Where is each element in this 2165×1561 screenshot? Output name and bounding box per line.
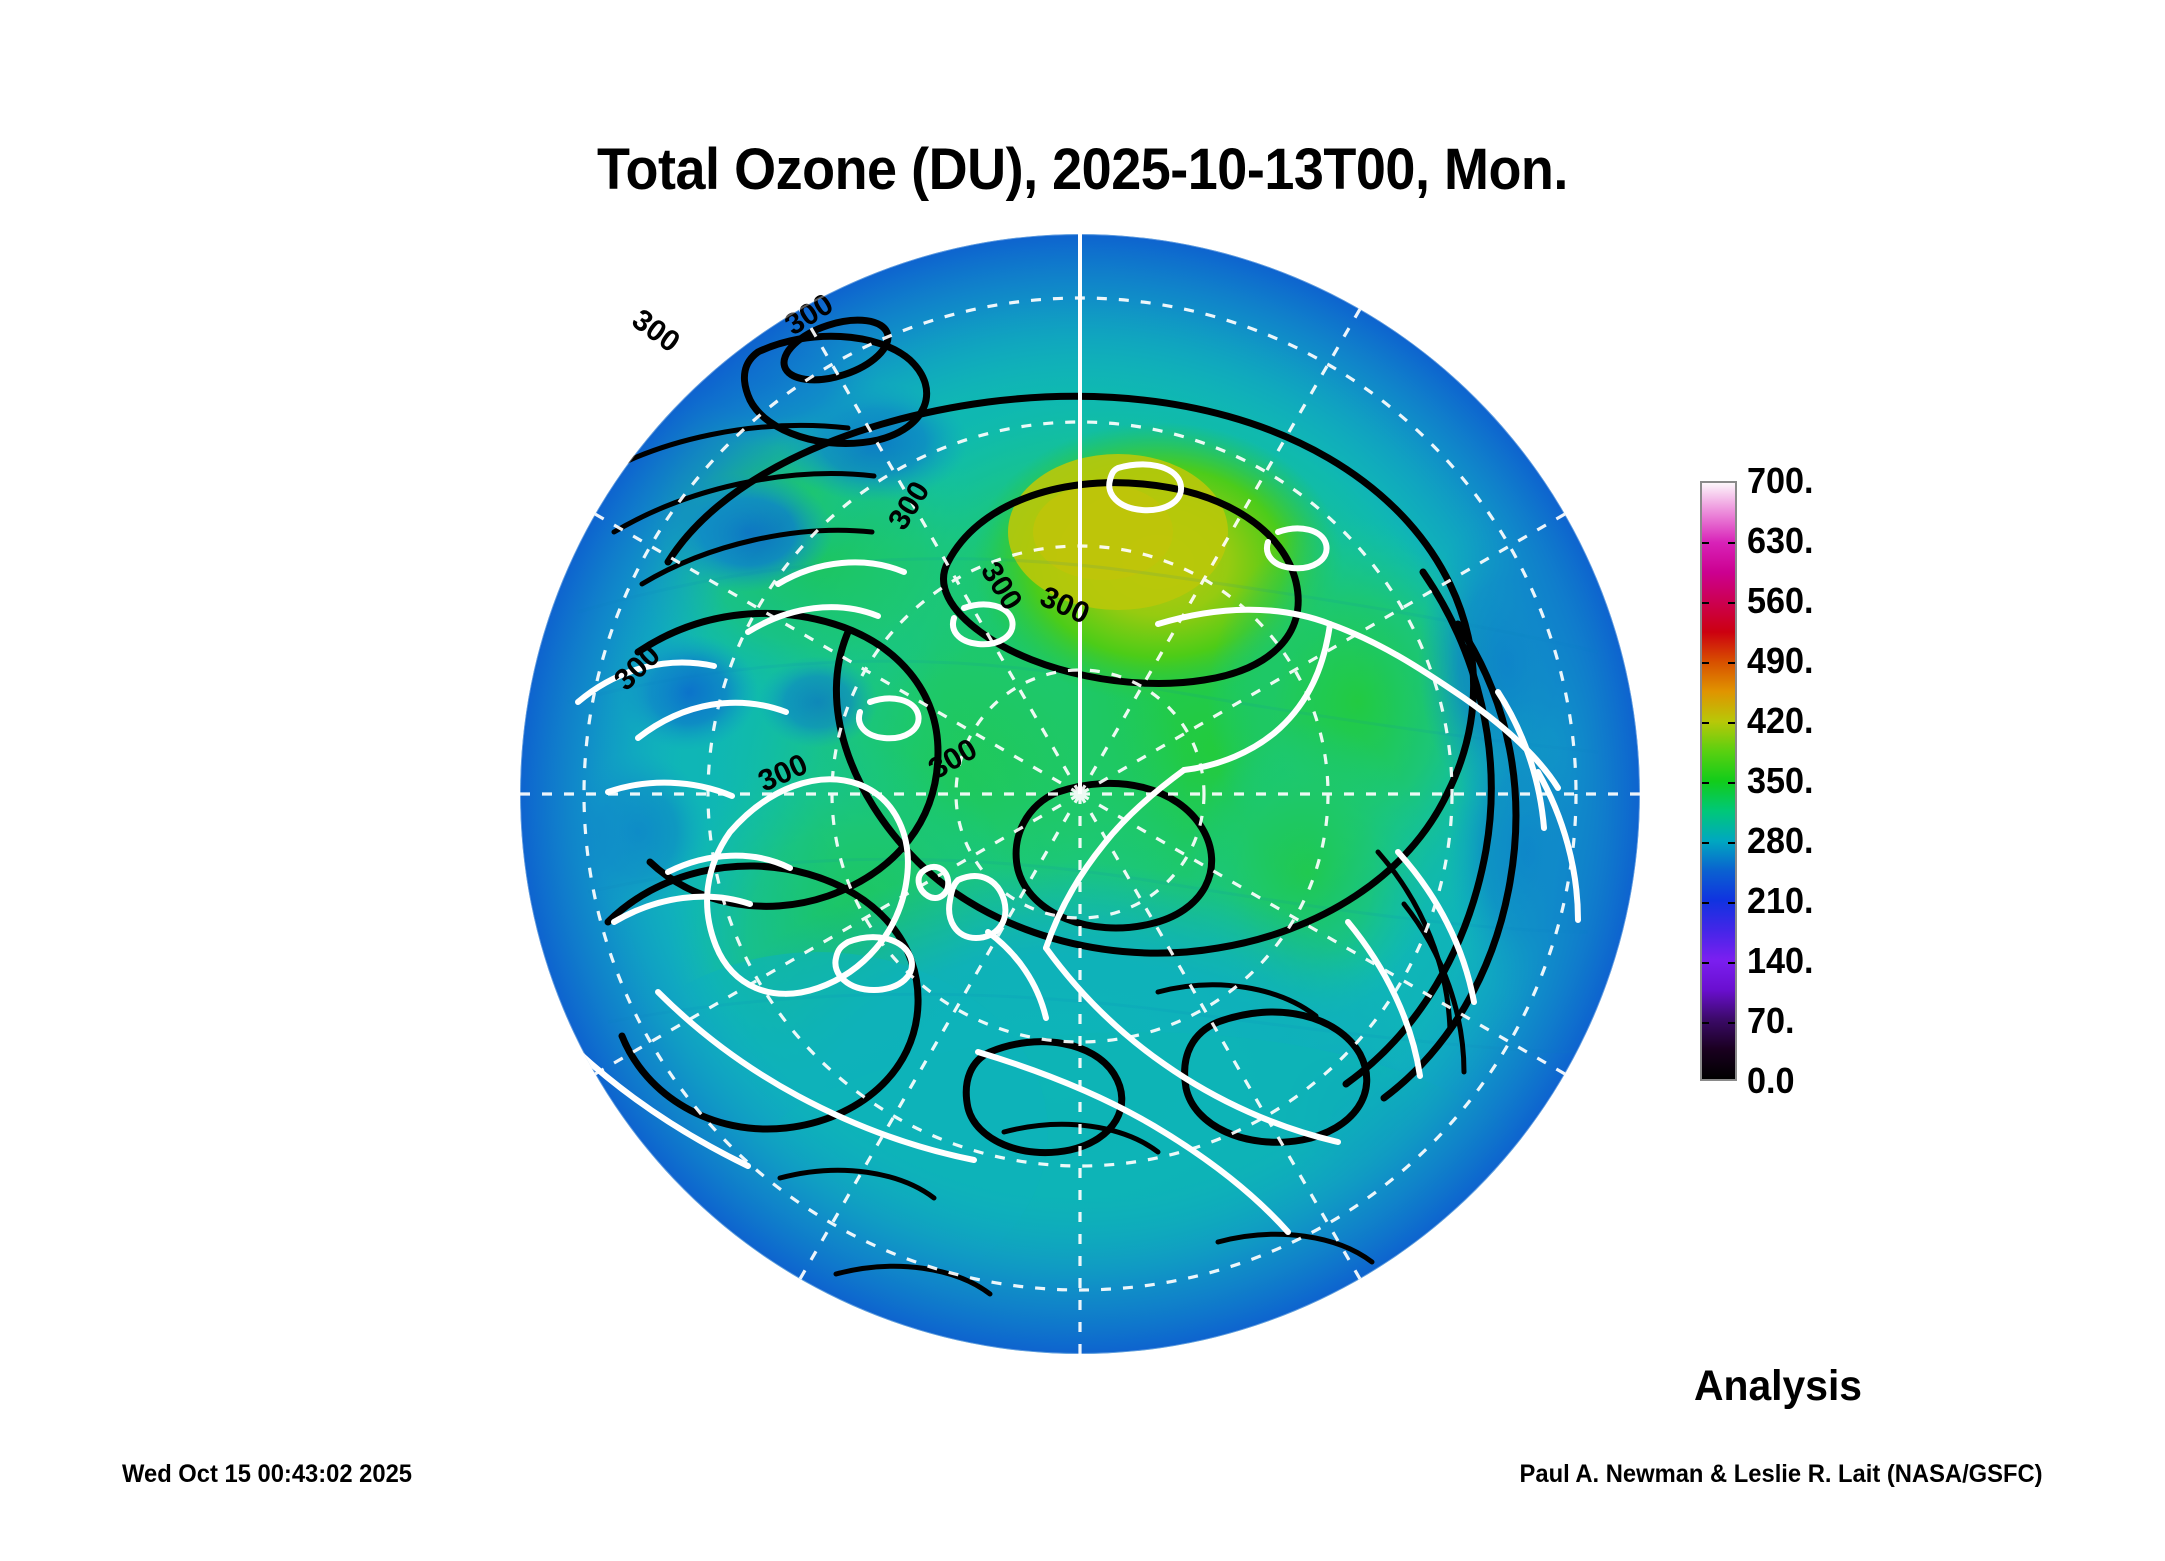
colorbar-tick-label: 490.: [1747, 640, 1814, 682]
colorbar-tick-label: 140.: [1747, 940, 1814, 982]
colorbar-labels: 700.630.560.490.420.350.280.210.140.70.0…: [1747, 481, 1967, 1081]
colorbar-tick-label: 210.: [1747, 880, 1814, 922]
map-canvas: 300 300 300 300 300 300 300 300: [518, 232, 1642, 1356]
credit-label: Paul A. Newman & Leslie R. Lait (NASA/GS…: [1520, 1460, 2043, 1489]
timestamp-label: Wed Oct 15 00:43:02 2025: [122, 1460, 412, 1489]
ozone-field: [520, 234, 1640, 1356]
colorbar: [1700, 481, 1737, 1081]
colorbar-tick-label: 70.: [1747, 1000, 1795, 1042]
page-title: Total Ozone (DU), 2025-10-13T00, Mon.: [76, 136, 2089, 203]
colorbar-tick-label: 0.0: [1747, 1060, 1795, 1102]
colorbar-tick-label: 630.: [1747, 520, 1814, 562]
colorbar-tick-label: 420.: [1747, 700, 1814, 742]
colorbar-tick-label: 350.: [1747, 760, 1814, 802]
ozone-map: 300 300 300 300 300 300 300 300: [518, 232, 1642, 1356]
ozone-map-page: Total Ozone (DU), 2025-10-13T00, Mon.: [0, 0, 2165, 1561]
analysis-label: Analysis: [1694, 1362, 1862, 1411]
colorbar-tick-label: 280.: [1747, 820, 1814, 862]
colorbar-tick-label: 560.: [1747, 580, 1814, 622]
colorbar-gradient: [1702, 483, 1735, 1079]
colorbar-tick-label: 700.: [1747, 460, 1814, 502]
svg-text:300: 300: [626, 303, 686, 359]
